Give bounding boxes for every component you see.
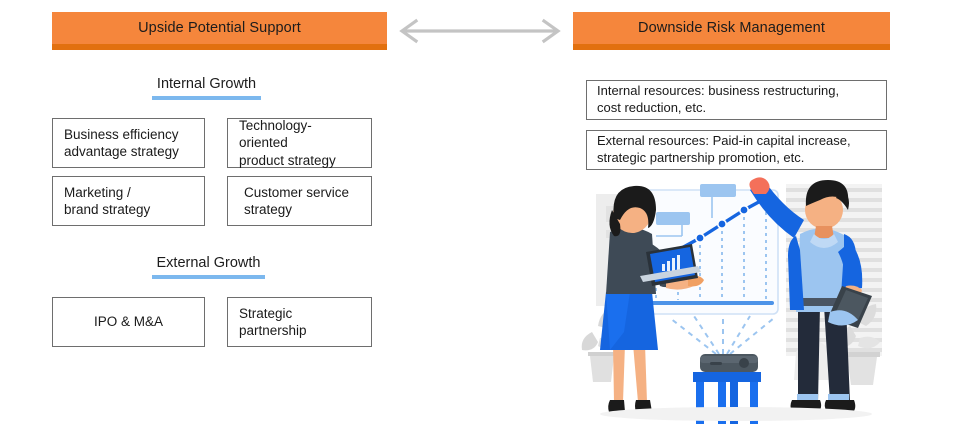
strategy-box-label: IPO & M&A xyxy=(94,313,163,330)
strategy-box-label: Strategic partnership xyxy=(239,305,360,340)
strategy-box-label: Customer service strategy xyxy=(244,184,349,219)
heading-external-label: External Growth xyxy=(157,255,261,271)
business-presentation-illustration xyxy=(578,176,894,424)
strategy-box-label: Business efficiency advantage strategy xyxy=(64,126,179,161)
section-heading-external-growth: External Growth xyxy=(152,255,265,279)
banner-left-title: Upside Potential Support xyxy=(138,20,301,36)
strategy-box-strategic-partnership[interactable]: Strategic partnership xyxy=(227,297,372,347)
double-headed-arrow-icon xyxy=(398,17,562,45)
note-box-internal-resources[interactable]: Internal resources: business restructuri… xyxy=(586,80,887,120)
note-box-external-resources[interactable]: External resources: Paid-in capital incr… xyxy=(586,130,887,170)
note-box-label: External resources: Paid-in capital incr… xyxy=(597,133,851,167)
banner-upside-potential-support: Upside Potential Support xyxy=(52,12,387,50)
strategy-box-label: Marketing / brand strategy xyxy=(64,184,150,219)
heading-internal-label: Internal Growth xyxy=(157,76,256,92)
banner-downside-risk-management: Downside Risk Management xyxy=(573,12,890,50)
section-heading-internal-growth: Internal Growth xyxy=(152,76,261,100)
strategy-box-label: Technology-oriented product strategy xyxy=(239,117,360,169)
banner-right-title: Downside Risk Management xyxy=(638,20,825,36)
strategy-box-technology-oriented[interactable]: Technology-oriented product strategy xyxy=(227,118,372,168)
floor-shadow xyxy=(600,407,872,421)
strategy-box-customer-service[interactable]: Customer service strategy xyxy=(227,176,372,226)
note-box-label: Internal resources: business restructuri… xyxy=(597,83,839,117)
strategy-box-business-efficiency[interactable]: Business efficiency advantage strategy xyxy=(52,118,205,168)
projector-icon xyxy=(700,354,758,372)
strategy-box-marketing-brand[interactable]: Marketing / brand strategy xyxy=(52,176,205,226)
strategy-box-ipo-mna[interactable]: IPO & M&A xyxy=(52,297,205,347)
